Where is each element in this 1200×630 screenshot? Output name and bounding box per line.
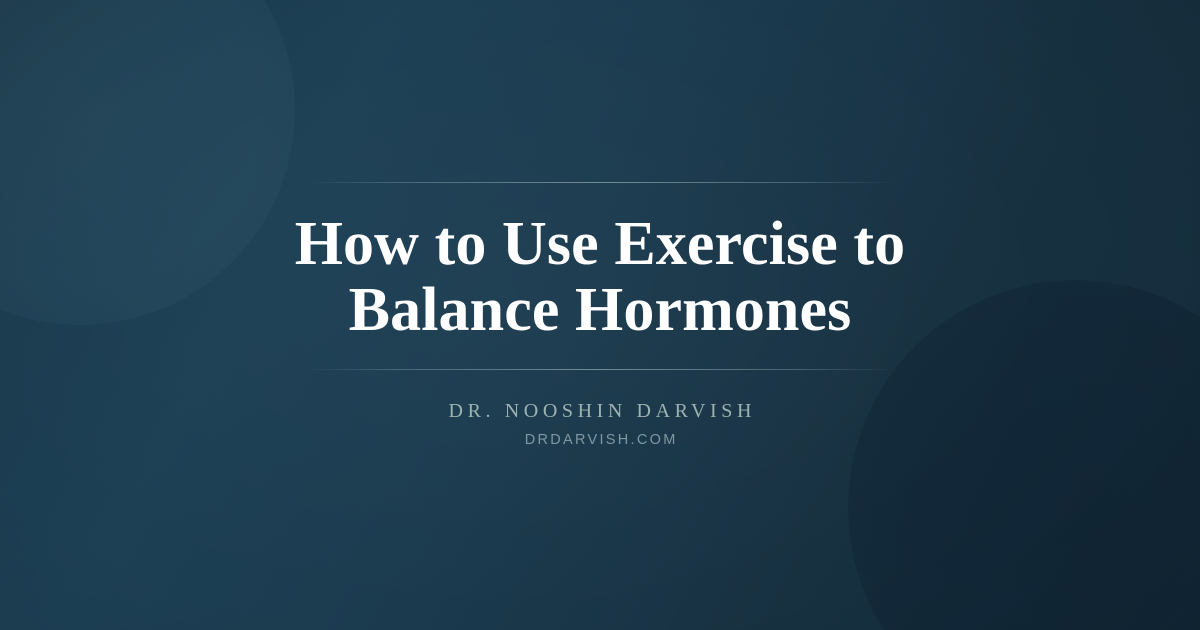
author-name: DR. NOOSHIN DARVISH	[444, 400, 756, 423]
site-url: DRDARVISH.COM	[444, 432, 756, 448]
page-title: How to Use Exercise to Balance Hormones	[210, 211, 990, 344]
banner-content: How to Use Exercise to Balance Hormones …	[0, 0, 1200, 630]
divider-bottom	[307, 369, 893, 370]
social-share-banner: How to Use Exercise to Balance Hormones …	[0, 0, 1200, 630]
byline: DR. NOOSHIN DARVISH DRDARVISH.COM	[444, 400, 756, 448]
divider-top	[307, 182, 893, 183]
